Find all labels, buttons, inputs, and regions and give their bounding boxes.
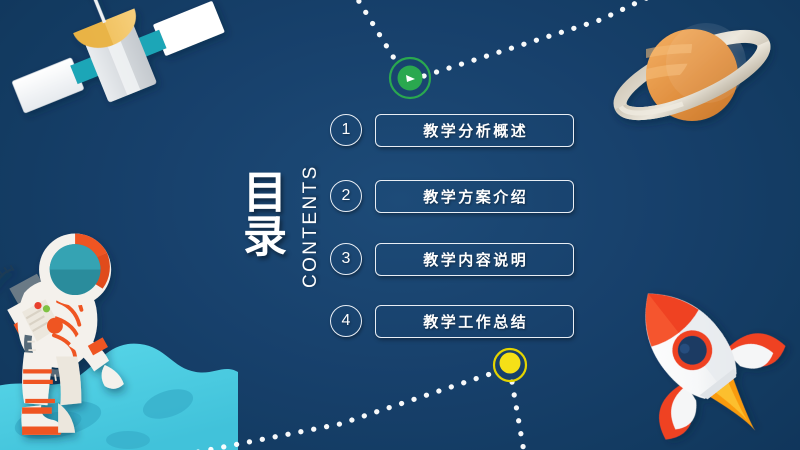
- slide-canvas: 目录 CONTENTS 1 教学分析概述 2 教学方案介绍 3 教学内容说明 4…: [0, 0, 800, 450]
- toc-box-2[interactable]: 教学方案介绍: [375, 180, 574, 213]
- toc-item-1[interactable]: 1 教学分析概述: [330, 111, 574, 149]
- toc-box-1[interactable]: 教学分析概述: [375, 114, 574, 147]
- toc-number-3: 3: [330, 243, 362, 275]
- toc-label-1: 教学分析概述: [421, 120, 529, 141]
- toc-box-3[interactable]: 教学内容说明: [375, 243, 574, 276]
- toc-label-3: 教学内容说明: [421, 249, 529, 270]
- toc-item-3[interactable]: 3 教学内容说明: [330, 240, 574, 278]
- toc-item-4[interactable]: 4 教学工作总结: [330, 302, 574, 340]
- contents-panel: 目录 CONTENTS 1 教学分析概述 2 教学方案介绍 3 教学内容说明 4…: [0, 0, 800, 450]
- toc-number-2: 2: [330, 180, 362, 212]
- toc-label-2: 教学方案介绍: [421, 186, 529, 207]
- toc-box-4[interactable]: 教学工作总结: [375, 305, 574, 338]
- toc-label-4: 教学工作总结: [421, 311, 529, 332]
- section-title-block: 目录 CONTENTS: [222, 138, 340, 290]
- page-title-cn: 目录: [230, 138, 296, 288]
- toc-number-4: 4: [330, 305, 362, 337]
- toc-item-2[interactable]: 2 教学方案介绍: [330, 177, 574, 215]
- page-title-en: CONTENTS: [300, 142, 322, 288]
- toc-number-1: 1: [330, 114, 362, 146]
